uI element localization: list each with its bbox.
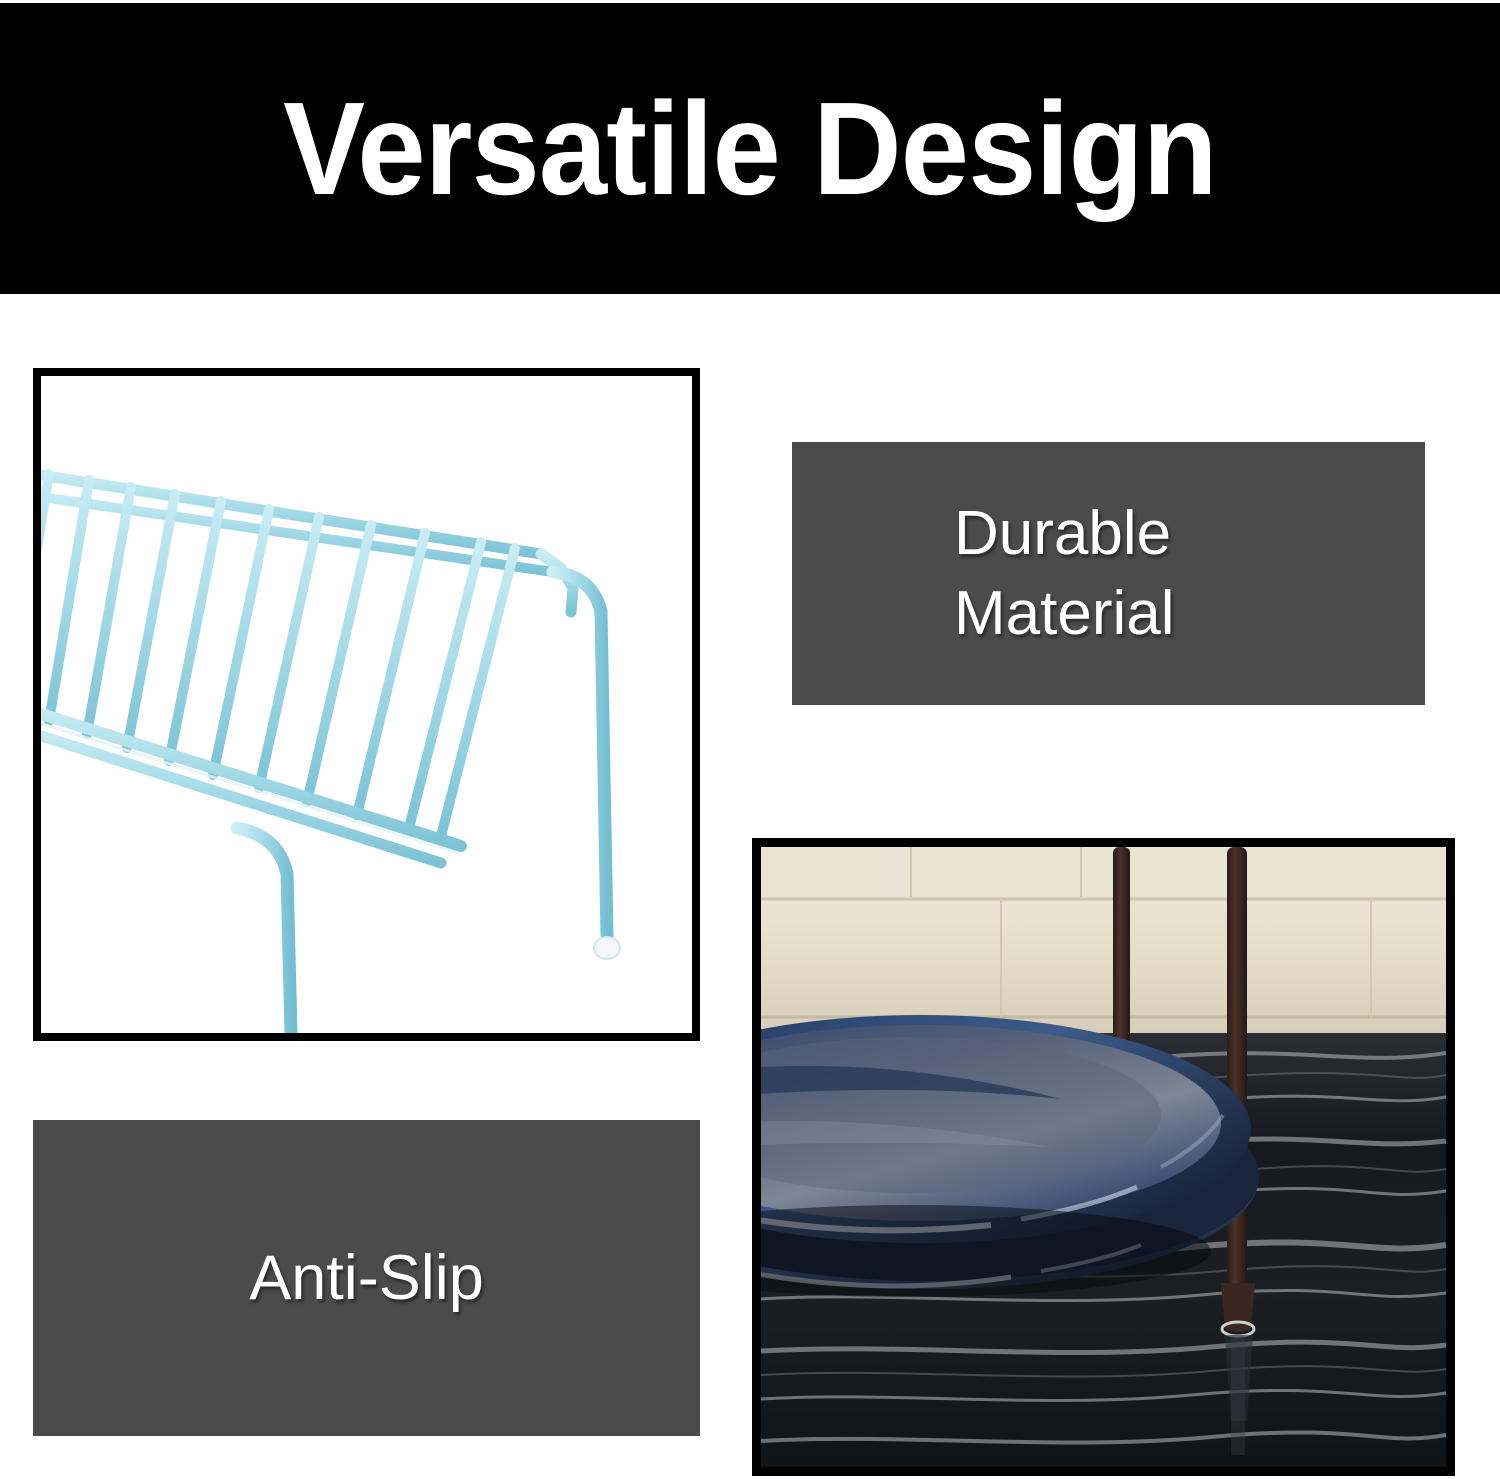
lifestyle-photo-image [761, 847, 1446, 1467]
feature-box-durable-material: Durable Material [792, 442, 1425, 705]
rack-leg [1227, 847, 1247, 1299]
feature-label-durable-material: Durable Material [954, 494, 1175, 653]
feature-box-anti-slip: Anti-Slip [33, 1120, 700, 1436]
header-banner: Versatile Design [0, 3, 1500, 294]
foot-cap-icon [594, 937, 620, 959]
lifestyle-photo-panel [752, 838, 1455, 1476]
product-photo-panel [33, 368, 700, 1041]
plates-on-countertop-illustration [761, 847, 1446, 1467]
wire-shelf-rack-illustration [41, 376, 692, 1033]
feature-label-anti-slip: Anti-Slip [249, 1238, 484, 1319]
page-title: Versatile Design [283, 83, 1217, 215]
